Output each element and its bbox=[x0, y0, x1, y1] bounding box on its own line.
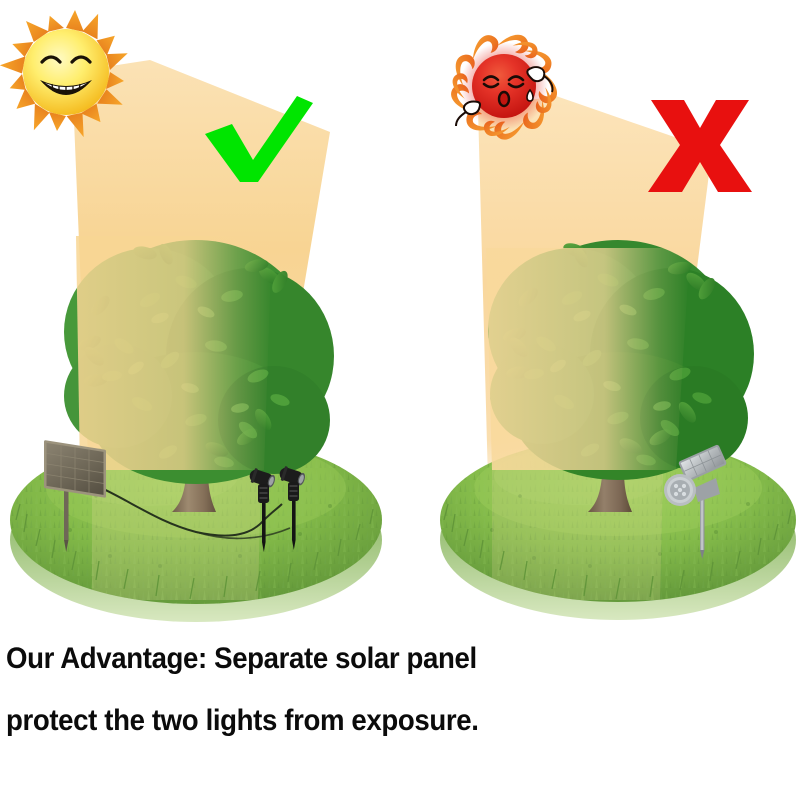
caption-line-2: protect the two lights from exposure. bbox=[6, 690, 668, 752]
sun-mouth bbox=[499, 92, 509, 106]
caption: Our Advantage: Separate solar panel prot… bbox=[6, 628, 726, 752]
caption-line-1: Our Advantage: Separate solar panel bbox=[6, 628, 668, 690]
panel-left-good bbox=[0, 10, 382, 622]
infographic-canvas: Our Advantage: Separate solar panel prot… bbox=[0, 0, 800, 800]
tree-canopy-right bbox=[486, 240, 754, 480]
sun-disc bbox=[23, 29, 109, 115]
light-head bbox=[664, 474, 696, 506]
sweat-drop bbox=[527, 90, 533, 101]
sun-disc bbox=[472, 54, 536, 118]
panel-right-bad bbox=[438, 31, 798, 620]
